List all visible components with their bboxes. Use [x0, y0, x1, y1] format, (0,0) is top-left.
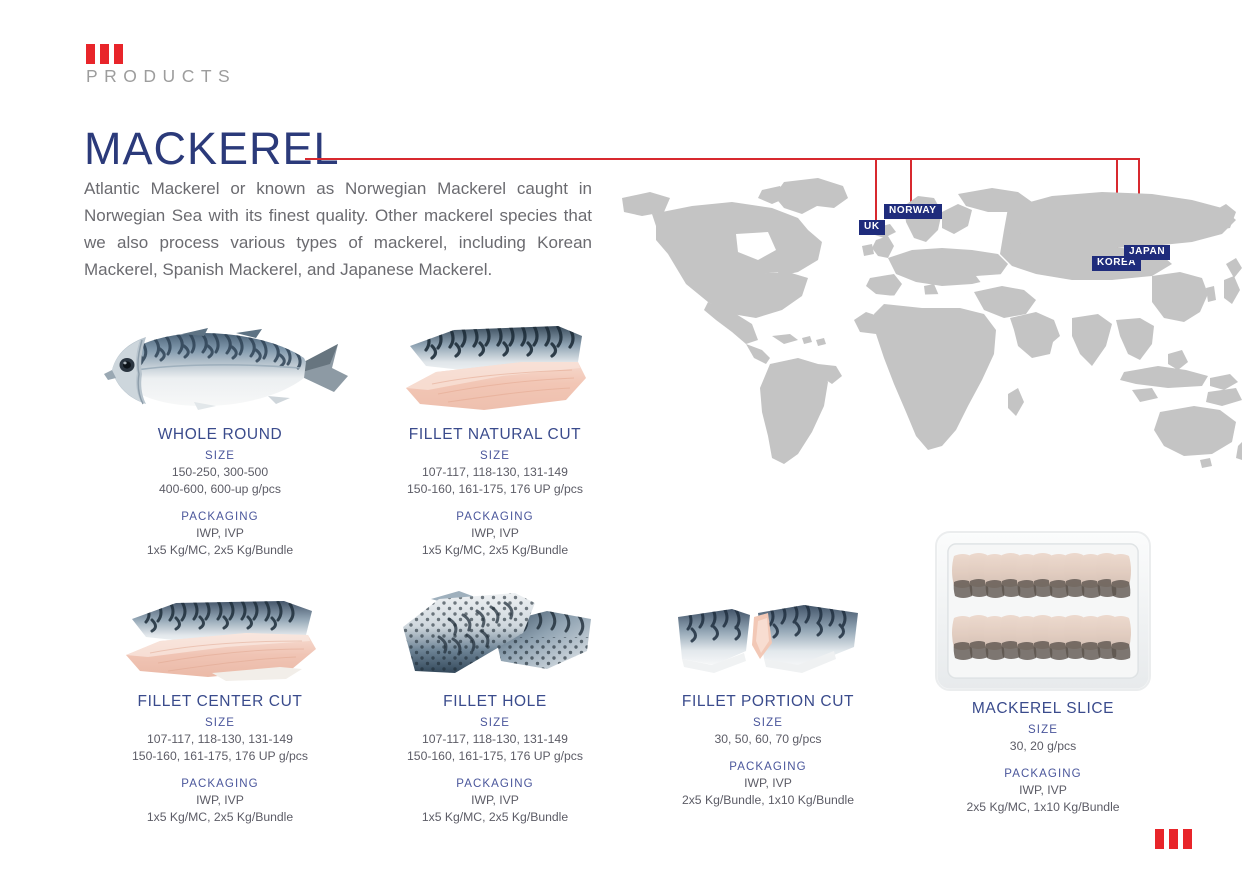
packaging-values: IWP, IVP 1x5 Kg/MC, 2x5 Kg/Bundle — [80, 792, 360, 826]
product-image-container — [80, 585, 360, 685]
size-line: 107-117, 118-130, 131-149 — [80, 731, 360, 748]
section-label: PRODUCTS — [86, 66, 236, 87]
size-line: 400-600, 600-up g/pcs — [80, 481, 360, 498]
fillet-hole-image — [397, 589, 593, 685]
packaging-line: 2x5 Kg/Bundle, 1x10 Kg/Bundle — [650, 792, 886, 809]
product-image-container — [920, 520, 1166, 692]
packaging-label: PACKAGING — [370, 511, 620, 523]
packaging-values: IWP, IVP 2x5 Kg/Bundle, 1x10 Kg/Bundle — [650, 775, 886, 809]
connector-line-horizontal — [305, 158, 1140, 160]
packaging-values: IWP, IVP 1x5 Kg/MC, 2x5 Kg/Bundle — [80, 525, 360, 559]
product-card-fillet-hole: FILLET HOLE SIZE 107-117, 118-130, 131-1… — [370, 585, 620, 826]
product-caption: FILLET NATURAL CUT SIZE 107-117, 118-130… — [370, 418, 620, 559]
product-caption: FILLET HOLE SIZE 107-117, 118-130, 131-1… — [370, 685, 620, 826]
product-image-container — [370, 585, 620, 685]
packaging-values: IWP, IVP 1x5 Kg/MC, 2x5 Kg/Bundle — [370, 525, 620, 559]
product-card-mackerel-slice: MACKEREL SLICE SIZE 30, 20 g/pcs PACKAGI… — [920, 520, 1166, 816]
mackerel-slice-tray-image — [934, 530, 1152, 692]
product-image-container — [370, 300, 620, 418]
size-line: 30, 50, 60, 70 g/pcs — [650, 731, 886, 748]
size-label: SIZE — [650, 717, 886, 729]
product-image-container — [650, 585, 886, 685]
size-values: 107-117, 118-130, 131-149 150-160, 161-1… — [80, 731, 360, 765]
size-values: 107-117, 118-130, 131-149 150-160, 161-1… — [370, 731, 620, 765]
packaging-label: PACKAGING — [650, 761, 886, 773]
size-line: 107-117, 118-130, 131-149 — [370, 464, 620, 481]
size-label: SIZE — [80, 450, 360, 462]
map-pin-uk[interactable]: UK — [859, 220, 885, 235]
packaging-label: PACKAGING — [80, 511, 360, 523]
fillet-natural-cut-image — [402, 318, 588, 418]
size-values: 30, 20 g/pcs — [920, 738, 1166, 755]
packaging-line: 1x5 Kg/MC, 2x5 Kg/Bundle — [370, 809, 620, 826]
product-name: FILLET HOLE — [370, 693, 620, 711]
whole-mackerel-image — [86, 318, 354, 418]
map-pin-japan[interactable]: JAPAN — [1124, 245, 1170, 260]
size-line: 150-160, 161-175, 176 UP g/pcs — [370, 481, 620, 498]
product-name: MACKEREL SLICE — [920, 700, 1166, 718]
packaging-line: IWP, IVP — [370, 525, 620, 542]
product-caption: WHOLE ROUND SIZE 150-250, 300-500 400-60… — [80, 418, 360, 559]
product-name: WHOLE ROUND — [80, 426, 360, 444]
packaging-line: IWP, IVP — [650, 775, 886, 792]
packaging-line: IWP, IVP — [80, 792, 360, 809]
product-card-fillet-natural-cut: FILLET NATURAL CUT SIZE 107-117, 118-130… — [370, 300, 620, 559]
three-bars-logo-icon-footer — [1155, 829, 1192, 849]
packaging-values: IWP, IVP 2x5 Kg/MC, 1x10 Kg/Bundle — [920, 782, 1166, 816]
size-line: 107-117, 118-130, 131-149 — [370, 731, 620, 748]
packaging-line: IWP, IVP — [920, 782, 1166, 799]
packaging-values: IWP, IVP 1x5 Kg/MC, 2x5 Kg/Bundle — [370, 792, 620, 826]
product-name: FILLET NATURAL CUT — [370, 426, 620, 444]
size-values: 150-250, 300-500 400-600, 600-up g/pcs — [80, 464, 360, 498]
page-title: MACKEREL — [84, 126, 340, 171]
packaging-line: 2x5 Kg/MC, 1x10 Kg/Bundle — [920, 799, 1166, 816]
size-line: 150-250, 300-500 — [80, 464, 360, 481]
size-values: 30, 50, 60, 70 g/pcs — [650, 731, 886, 748]
packaging-line: 1x5 Kg/MC, 2x5 Kg/Bundle — [80, 542, 360, 559]
product-name: FILLET CENTER CUT — [80, 693, 360, 711]
packaging-line: 1x5 Kg/MC, 2x5 Kg/Bundle — [370, 542, 620, 559]
size-label: SIZE — [370, 717, 620, 729]
packaging-line: 1x5 Kg/MC, 2x5 Kg/Bundle — [80, 809, 360, 826]
size-label: SIZE — [370, 450, 620, 462]
packaging-label: PACKAGING — [920, 768, 1166, 780]
fillet-portion-cut-image — [674, 599, 862, 685]
page-description: Atlantic Mackerel or known as Norwegian … — [84, 175, 592, 283]
size-line: 30, 20 g/pcs — [920, 738, 1166, 755]
three-bars-logo-icon — [86, 44, 123, 64]
size-label: SIZE — [80, 717, 360, 729]
packaging-label: PACKAGING — [80, 778, 360, 790]
fillet-center-cut-image — [116, 597, 324, 685]
product-card-fillet-portion-cut: FILLET PORTION CUT SIZE 30, 50, 60, 70 g… — [650, 585, 886, 809]
product-card-whole-round: WHOLE ROUND SIZE 150-250, 300-500 400-60… — [80, 300, 360, 559]
size-line: 150-160, 161-175, 176 UP g/pcs — [80, 748, 360, 765]
product-card-fillet-center-cut: FILLET CENTER CUT SIZE 107-117, 118-130,… — [80, 585, 360, 826]
size-line: 150-160, 161-175, 176 UP g/pcs — [370, 748, 620, 765]
map-pin-norway[interactable]: NORWAY — [884, 204, 942, 219]
slide-page: PRODUCTS MACKEREL Atlantic Mackerel or k… — [0, 0, 1253, 875]
product-caption: FILLET PORTION CUT SIZE 30, 50, 60, 70 g… — [650, 685, 886, 809]
product-caption: FILLET CENTER CUT SIZE 107-117, 118-130,… — [80, 685, 360, 826]
product-image-container — [80, 300, 360, 418]
product-name: FILLET PORTION CUT — [650, 693, 886, 711]
packaging-label: PACKAGING — [370, 778, 620, 790]
packaging-line: IWP, IVP — [370, 792, 620, 809]
size-label: SIZE — [920, 724, 1166, 736]
size-values: 107-117, 118-130, 131-149 150-160, 161-1… — [370, 464, 620, 498]
product-caption: MACKEREL SLICE SIZE 30, 20 g/pcs PACKAGI… — [920, 692, 1166, 816]
packaging-line: IWP, IVP — [80, 525, 360, 542]
